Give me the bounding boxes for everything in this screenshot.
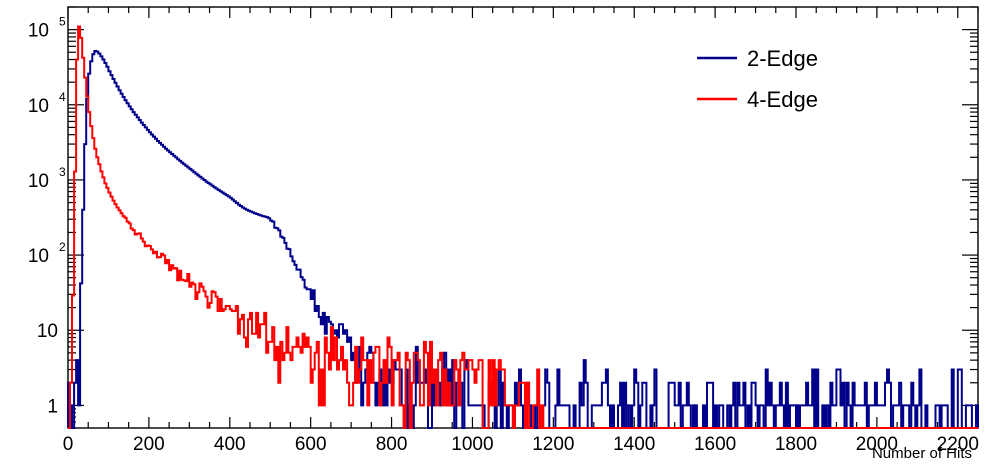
- x-tick-label: 600: [295, 434, 327, 455]
- svg-text:10: 10: [28, 246, 49, 267]
- legend-label-2-edge: 2-Edge: [747, 46, 818, 71]
- histogram-plot: 0200400600800100012001400160018002000220…: [0, 0, 996, 472]
- series-spike-2-edge: [650, 405, 652, 428]
- x-tick-label: 800: [376, 434, 408, 455]
- chart-canvas: 0200400600800100012001400160018002000220…: [0, 0, 996, 472]
- svg-text:10: 10: [28, 96, 49, 117]
- series-spike-2-edge: [976, 405, 978, 428]
- series-spike-2-edge: [788, 405, 790, 428]
- y-tick-label: 10: [37, 321, 58, 342]
- svg-text:10: 10: [28, 171, 49, 192]
- x-tick-label: 200: [133, 434, 165, 455]
- svg-text:10: 10: [28, 21, 49, 42]
- x-axis-title: Number of Hits: [872, 445, 972, 462]
- x-tick-label: 400: [214, 434, 246, 455]
- svg-text:4: 4: [59, 90, 66, 104]
- svg-text:10: 10: [37, 321, 58, 342]
- x-tick-label: 0: [63, 434, 74, 455]
- x-tick-label: 1000: [451, 434, 493, 455]
- x-tick-label: 1200: [532, 434, 574, 455]
- x-tick-label: 1400: [613, 434, 655, 455]
- legend-label-4-edge: 4-Edge: [747, 87, 818, 112]
- series-spike-2-edge: [796, 405, 798, 428]
- svg-text:5: 5: [59, 15, 66, 29]
- svg-text:1: 1: [47, 396, 58, 417]
- y-tick-label: 1: [47, 396, 58, 417]
- x-tick-label: 1800: [775, 434, 817, 455]
- x-tick-label: 1600: [694, 434, 736, 455]
- svg-text:3: 3: [59, 165, 66, 179]
- svg-text:2: 2: [59, 240, 66, 254]
- series-spike-2-edge: [693, 405, 695, 428]
